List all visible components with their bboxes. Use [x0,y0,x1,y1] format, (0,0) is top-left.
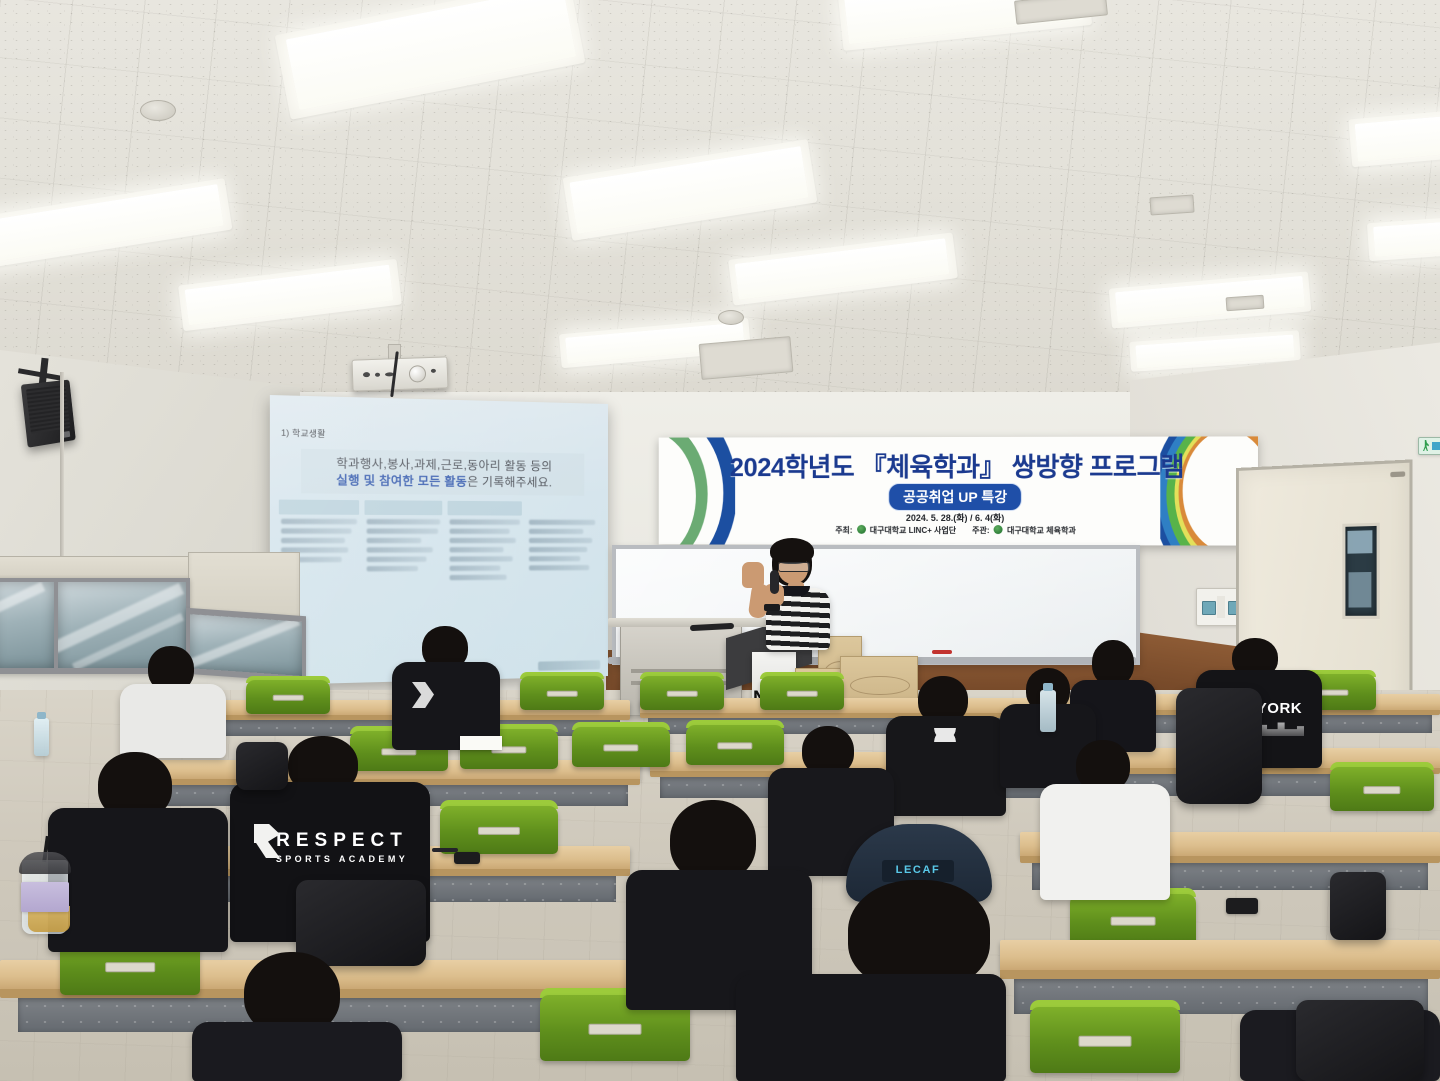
door-handle[interactable] [1390,471,1405,477]
slide-column [527,501,600,583]
slide-bullet [366,547,433,552]
under-armour-logo-icon [932,728,958,742]
presenter [742,540,852,650]
slide-column-caption [279,500,359,515]
slide-university-logo [538,660,600,671]
shirt-brand-line1: RESPECT [276,830,408,852]
air-vent [1149,194,1194,215]
banner-title: 2024학년도 『체육학과』 쌍방향 프로그램 [730,447,1184,484]
exit-sign [1418,437,1440,455]
slide-bullet [529,538,592,543]
ceiling-projector [351,356,448,391]
chair-back [246,680,330,714]
banner-host: 주최: 대구대학교 LINC+ 사업단 [835,525,956,536]
slide-columns [279,500,600,586]
backpack [236,742,288,790]
slide-line-2-rest: 은 기록해주세요. [467,476,552,489]
slide-heading: 1) 학교생활 [281,427,325,440]
slide-bullet [449,566,500,571]
ceiling [0,0,1440,420]
whiteboard-marker [932,650,952,654]
student-torso [192,1022,402,1081]
student-foreground [192,952,402,1081]
chair-back [640,676,724,710]
water-bottle [1040,690,1056,732]
water-bottle [34,718,49,756]
chair[interactable] [1330,762,1434,814]
wristwatch [764,604,780,611]
air-vent [1226,295,1265,312]
slide-column-caption [447,501,522,516]
banner-date: 2024. 5. 28.(화) / 6. 4(화) [906,511,1004,524]
smoke-detector [718,310,744,325]
student [48,752,228,952]
student-torso [1040,784,1170,900]
slide-bullet [366,566,417,571]
banner-organizers: 주최: 대구대학교 LINC+ 사업단 주관: 대구대학교 체육학과 [835,525,1076,536]
event-banner: 2024학년도 『체육학과』 쌍방향 프로그램 공공취업 UP 특강 2024.… [659,436,1258,545]
smartphone[interactable] [1226,898,1258,914]
slide-column-caption [527,501,600,516]
chair[interactable] [246,676,330,716]
slide-column-caption [364,500,442,515]
banner-organizer: 주관: 대구대학교 체육학과 [972,525,1076,536]
pen [432,848,458,852]
chair[interactable] [572,722,670,770]
slide-bullet [529,556,580,561]
backpack [1176,688,1262,804]
slide-line-2: 실행 및 참여한 모든 활동은 기록해주세요. [301,471,584,491]
chair-back [1030,1007,1180,1073]
chair-back [760,676,844,710]
student [120,646,226,758]
cup-sleeve [21,882,69,912]
slide-bullet [366,528,437,533]
backpack [1296,1000,1424,1081]
slide-bullet [529,565,589,570]
shirt-brand-line2: SPORTS ACADEMY [276,854,408,864]
slide-column [447,501,522,585]
student [392,626,500,750]
wall-speaker [21,380,76,448]
slide-bullet [529,520,595,525]
iced-drink-cup [18,838,72,934]
slide-bullet [366,557,427,562]
student-underarmour [886,676,1006,816]
chair[interactable] [1030,1000,1180,1080]
slide-bullet [529,529,583,534]
banner-organizer-name: 대구대학교 체육학과 [1007,526,1076,535]
handheld-microphone [770,570,779,594]
slide-bullet [366,538,420,543]
slide-bullet [449,575,506,581]
door-window [1342,523,1379,619]
smartphone[interactable] [454,852,480,864]
chair[interactable] [520,672,604,712]
banner-host-label: 주최: [835,526,852,535]
slide-line-2-highlight: 실행 및 참여한 모든 활동 [336,475,467,489]
presenter-hair [770,538,814,564]
chair-back [440,806,558,854]
slide-main-message: 학과행사,봉사,과제,근로,동아리 활동 등의 실행 및 참여한 모든 활동은 … [301,449,584,496]
door-window-glow [1347,530,1372,553]
banner-host-name: 대구대학교 LINC+ 사업단 [870,526,956,535]
backpack [1330,872,1386,940]
slide-bullet [281,528,351,533]
student-torso [120,684,226,758]
desk-edge [1000,970,1440,979]
slide-bullet [281,538,345,543]
student-cap: LECAF [736,824,1006,1081]
panel-switch[interactable] [1202,601,1216,615]
chair-back [1330,767,1434,811]
door-window-glow [1349,572,1372,608]
slide-bullet [449,547,503,552]
university-emblem-icon [994,525,1003,534]
banner-swoosh-left [659,437,735,544]
chair-back [572,727,670,767]
exit-arrow-icon [1432,442,1440,450]
slide-bullet [529,547,587,552]
window-glass [0,582,54,668]
glasses-icon [778,562,810,572]
paper-sheet [460,736,502,750]
slide-bullet [366,519,439,524]
cup-dome-lid [19,852,71,874]
lecture-hall-photo: 1) 학교생활 학과행사,봉사,과제,근로,동아리 활동 등의 실행 및 참여한… [0,0,1440,1081]
smoke-detector [140,100,176,121]
desk-surface [1000,940,1440,971]
student-torso [736,974,1006,1081]
bottle-cap [37,712,46,719]
chair-back [520,676,604,710]
slide-column [364,500,442,585]
slide-bullet [449,556,512,561]
projector-lens [409,365,427,383]
chair[interactable] [640,672,724,712]
slide-bullet [449,538,515,543]
panel-label [1217,596,1225,618]
banner-subtitle: 공공취업 UP 특강 [888,483,1022,511]
university-emblem-icon [857,525,866,534]
projector-port [431,369,436,373]
exit-running-man-icon [1422,440,1429,451]
cap-brand-text: LECAF [896,864,941,876]
bottle-cap [1043,683,1053,691]
projector-port [363,372,370,377]
banner-organizer-label: 주관: [972,526,989,535]
projector-port [375,373,380,377]
slide-bullet [449,529,509,534]
student-white-tee [1040,740,1170,900]
chair[interactable] [760,672,844,712]
slide-bullet [449,519,520,524]
slide-bullet [281,519,357,525]
student-torso [48,808,228,952]
chair-back [1070,894,1196,946]
window-glare [0,582,45,616]
